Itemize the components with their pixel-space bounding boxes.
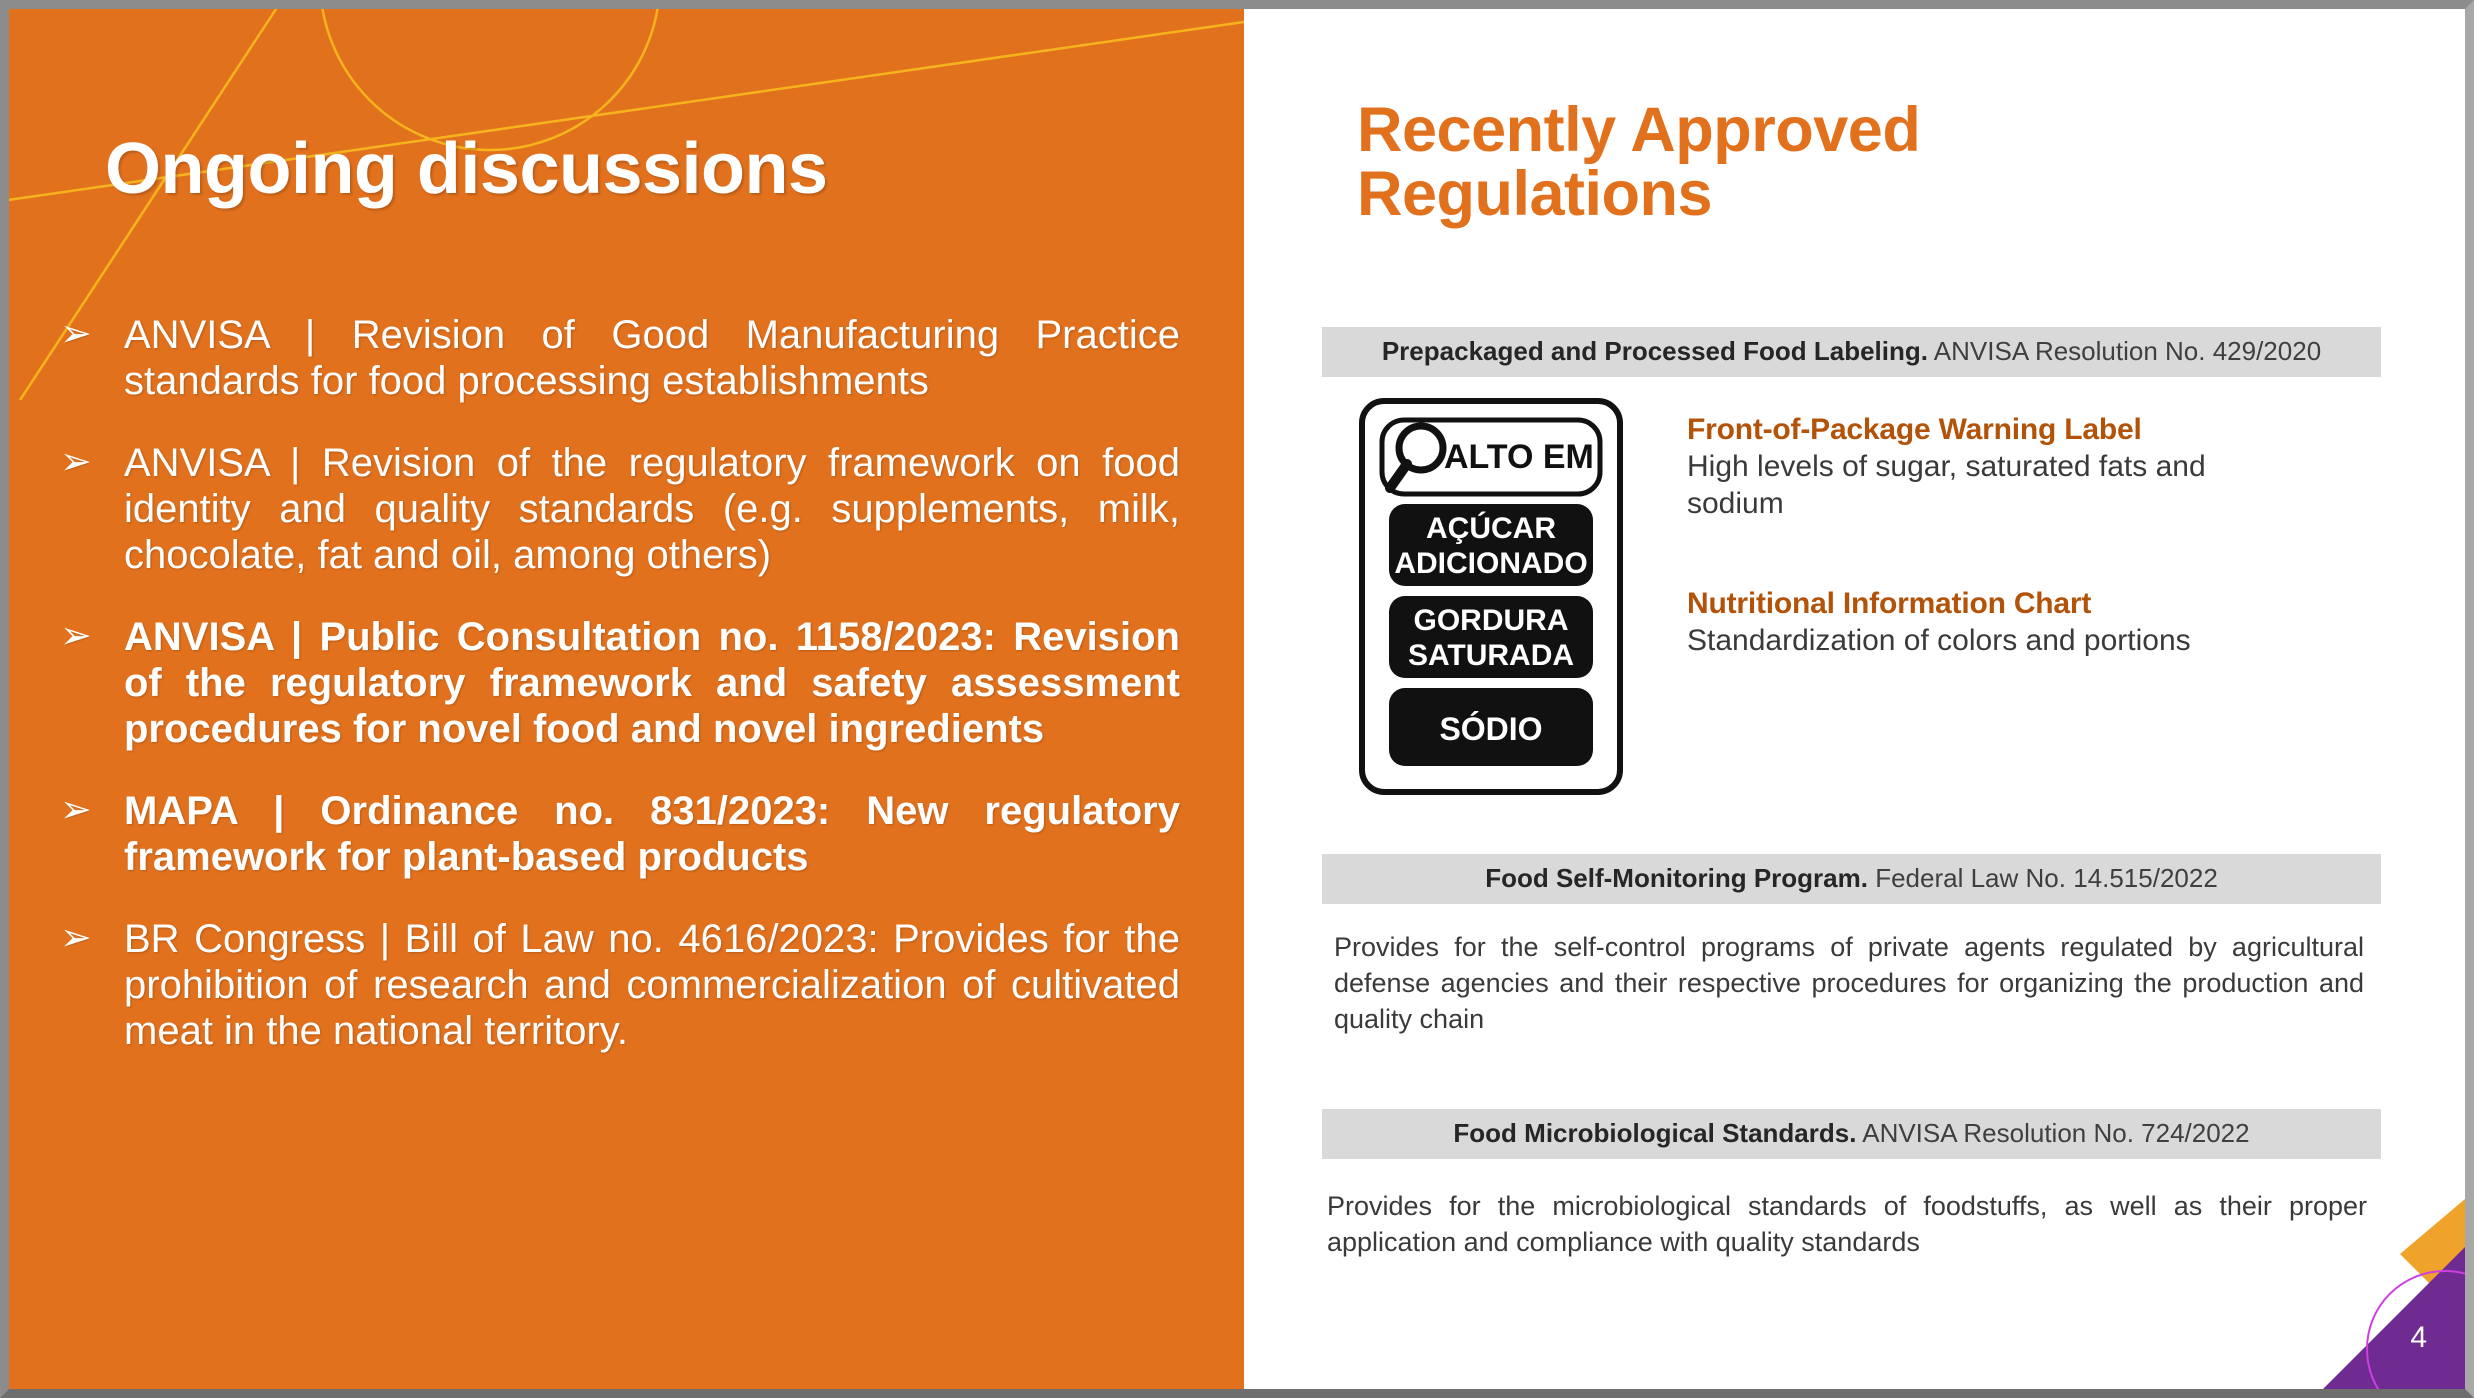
section-header-band-self-monitoring: Food Self-Monitoring Program. Federal La…	[1322, 854, 2381, 904]
svg-text:SÓDIO: SÓDIO	[1439, 711, 1542, 747]
microbiological-description: Provides for the microbiological standar…	[1327, 1189, 2367, 1261]
alto-em-warning-label: ALTO EM AÇÚCAR ADICIONADO GORDURA SATURA…	[1359, 398, 1623, 795]
arrow-bullet-icon: ➢	[60, 312, 124, 404]
arrow-bullet-icon: ➢	[60, 440, 124, 578]
left-orange-panel: Ongoing discussions ➢ ANVISA | Revision …	[0, 0, 1244, 1398]
list-item-text: ANVISA | Revision of the regulatory fram…	[124, 440, 1180, 578]
svg-text:GORDURA: GORDURA	[1414, 604, 1569, 637]
front-of-package-block: Front-of-Package Warning Label High leve…	[1687, 413, 2307, 522]
block-heading: Front-of-Package Warning Label	[1687, 413, 2307, 447]
band-title: Food Microbiological Standards.	[1453, 1118, 1856, 1148]
page-number: 4	[2410, 1321, 2427, 1355]
block-body: Standardization of colors and portions	[1687, 623, 2191, 660]
list-item-text: MAPA | Ordinance no. 831/2023: New regul…	[124, 788, 1180, 880]
nutritional-chart-block: Nutritional Information Chart Standardiz…	[1687, 587, 2191, 660]
slide-canvas: Ongoing discussions ➢ ANVISA | Revision …	[0, 0, 2474, 1398]
band-subtitle: ANVISA Resolution No. 724/2022	[1856, 1118, 2249, 1148]
svg-text:ADICIONADO: ADICIONADO	[1394, 547, 1587, 580]
list-item-text: ANVISA | Revision of Good Manufacturing …	[124, 312, 1180, 404]
ongoing-discussions-list: ➢ ANVISA | Revision of Good Manufacturin…	[60, 312, 1180, 1090]
block-heading: Nutritional Information Chart	[1687, 587, 2191, 621]
arrow-bullet-icon: ➢	[60, 788, 124, 880]
band-subtitle: ANVISA Resolution No. 429/2020	[1928, 336, 2321, 366]
list-item: ➢ ANVISA | Revision of Good Manufacturin…	[60, 312, 1180, 404]
svg-text:AÇÚCAR: AÇÚCAR	[1426, 511, 1556, 545]
list-item: ➢ BR Congress | Bill of Law no. 4616/202…	[60, 916, 1180, 1054]
page-title: Ongoing discussions	[105, 128, 828, 210]
list-item: ➢ MAPA | Ordinance no. 831/2023: New reg…	[60, 788, 1180, 880]
section-title: Recently Approved Regulations	[1357, 98, 2257, 227]
arrow-bullet-icon: ➢	[60, 614, 124, 752]
list-item-text: ANVISA | Public Consultation no. 1158/20…	[124, 614, 1180, 752]
self-monitoring-description: Provides for the self-control programs o…	[1334, 930, 2364, 1038]
corner-decoration	[2255, 1199, 2465, 1389]
section-header-band-microbiological: Food Microbiological Standards. ANVISA R…	[1322, 1109, 2381, 1159]
svg-text:SATURADA: SATURADA	[1408, 639, 1574, 672]
arrow-bullet-icon: ➢	[60, 916, 124, 1054]
band-title: Prepackaged and Processed Food Labeling.	[1382, 336, 1928, 366]
band-subtitle: Federal Law No. 14.515/2022	[1868, 863, 2218, 893]
list-item: ➢ ANVISA | Revision of the regulatory fr…	[60, 440, 1180, 578]
band-title: Food Self-Monitoring Program.	[1485, 863, 1868, 893]
section-header-band-labeling: Prepackaged and Processed Food Labeling.…	[1322, 327, 2381, 377]
svg-text:ALTO EM: ALTO EM	[1444, 438, 1594, 476]
list-item-text: BR Congress | Bill of Law no. 4616/2023:…	[124, 916, 1180, 1054]
block-body: High levels of sugar, saturated fats and…	[1687, 449, 2307, 522]
list-item: ➢ ANVISA | Public Consultation no. 1158/…	[60, 614, 1180, 752]
